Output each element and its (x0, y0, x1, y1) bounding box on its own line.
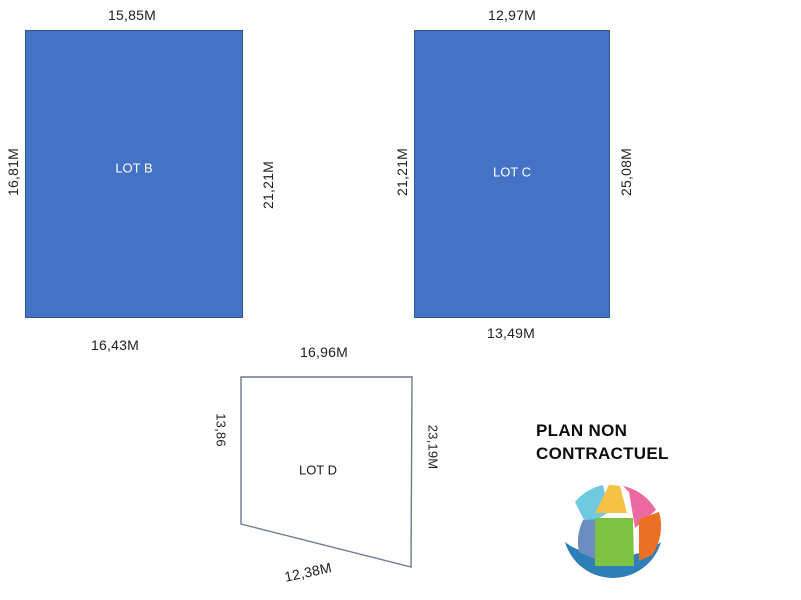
green-segment (595, 518, 634, 566)
orange-segment (639, 512, 661, 561)
plan-notice: PLAN NON CONTRACTUEL (536, 420, 669, 466)
plan-canvas: 15,85M 16,81M LOT B 21,21M 16,43M 12,97M… (0, 0, 801, 600)
lot-d-dimension-top: 16,96M (300, 344, 348, 360)
lot-c-dimension-bottom: 13,49M (487, 325, 535, 341)
lot-b-dimension-left: 16,81M (5, 148, 21, 196)
lot-d-dimension-right: 23,19M (426, 425, 441, 470)
lot-c-dimension-left: 21,21M (394, 148, 410, 196)
lot-b-dimension-top: 15,85M (108, 7, 156, 23)
lot-b-label: LOT B (115, 161, 152, 176)
lot-b-dimension-right: 21,21M (260, 161, 276, 209)
lot-d-dimension-left: 13,86 (214, 413, 229, 447)
lot-d-label: LOT D (299, 463, 337, 478)
lot-c-label: LOT C (493, 165, 531, 180)
lot-b-dimension-bottom: 16,43M (91, 337, 139, 353)
lot-c-dimension-right: 25,08M (618, 148, 634, 196)
globe-logo (557, 478, 669, 590)
lot-c-dimension-top: 12,97M (488, 7, 536, 23)
